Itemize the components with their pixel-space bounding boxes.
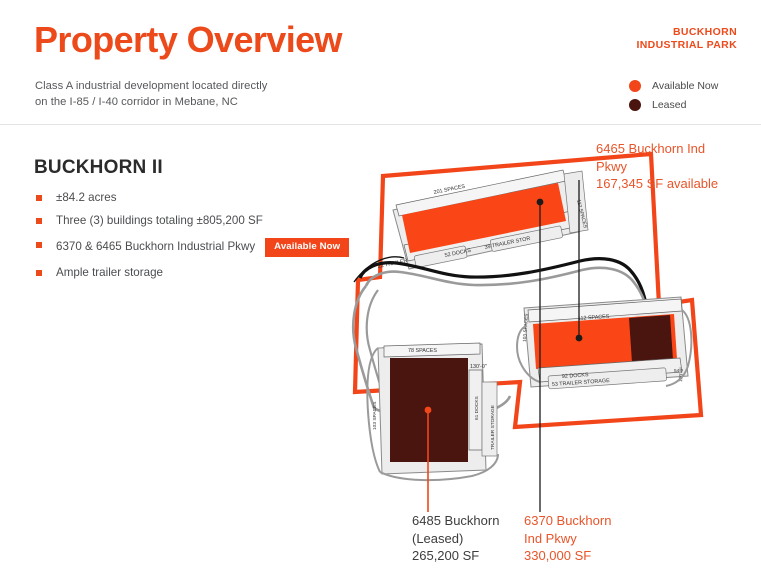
- bldg-6465-group: 201 SPACES 52 DOCKS 22 TRAILER 39 TRAILE…: [377, 170, 588, 270]
- property-overview-slide: Property Overview Class A industrial dev…: [0, 0, 761, 588]
- bullet-text: ±84.2 acres: [56, 191, 117, 205]
- callout-6485-line-3: 265,200 SF: [412, 547, 522, 565]
- legend-dot-leased-icon: [629, 99, 641, 111]
- leader-dot-6465: [576, 335, 583, 342]
- callout-6465-line-2: Pkwy: [596, 158, 756, 176]
- list-item: Three (3) buildings totaling ±805,200 SF: [34, 214, 364, 228]
- map-annotation: TRAILER STORAGE: [490, 405, 496, 450]
- callout-6465-line-3: 167,345 SF available: [596, 175, 756, 193]
- bullet-text: Ample trailer storage: [56, 266, 163, 280]
- callout-6485-line-2: (Leased): [412, 530, 522, 548]
- section-title: BUCKHORN II: [34, 158, 364, 177]
- page-header: Property Overview Class A industrial dev…: [0, 0, 761, 125]
- callout-6370-line-1: 6370 Buckhorn: [524, 512, 642, 530]
- callout-6370-line-3: 330,000 SF: [524, 547, 642, 565]
- leader-dot-6485: [425, 407, 432, 414]
- header-divider: [0, 124, 761, 125]
- callout-6370: 6370 Buckhorn Ind Pkwy 330,000 SF: [524, 512, 642, 565]
- callout-6485: 6485 Buckhorn (Leased) 265,200 SF: [412, 512, 522, 565]
- list-item: 6370 & 6465 Buckhorn Industrial Pkwy Ava…: [34, 238, 364, 257]
- map-annotation: 61 DOCKS: [474, 396, 480, 420]
- callout-6465: 6465 Buckhorn Ind Pkwy 167,345 SF availa…: [596, 140, 756, 193]
- bullet-text: Three (3) buildings totaling ±805,200 SF: [56, 214, 263, 228]
- callout-6485-line-1: 6485 Buckhorn: [412, 512, 522, 530]
- bldg-6485-group: 78 SPACES 130'-0" 61 DOCKS TRAILER STORA…: [367, 343, 498, 480]
- bullet-square-icon: [36, 270, 42, 276]
- brand-line-1: BUCKHORN: [636, 26, 737, 39]
- legend-dot-available-icon: [629, 80, 641, 92]
- page-title: Property Overview: [34, 22, 342, 58]
- list-item: ±84.2 acres: [34, 191, 364, 205]
- legend-item-leased: Leased: [629, 97, 737, 113]
- legend-label-leased: Leased: [652, 99, 686, 111]
- feature-bullet-list: ±84.2 acres Three (3) buildings totaling…: [34, 191, 364, 280]
- map-annotation: 103 SPACES: [372, 402, 378, 430]
- left-info-panel: BUCKHORN II ±84.2 acres Three (3) buildi…: [34, 158, 364, 289]
- bullet-square-icon: [36, 195, 42, 201]
- legend-label-available: Available Now: [652, 80, 718, 92]
- bullet-square-icon: [36, 218, 42, 224]
- callout-6370-line-2: Ind Pkwy: [524, 530, 642, 548]
- bullet-text: 6370 & 6465 Buckhorn Industrial Pkwy: [56, 240, 255, 254]
- map-legend: Available Now Leased: [629, 78, 737, 116]
- bldg-6370-group: 112 SPACES 92 DOCKS 53 TRAILER STORAGE 1…: [517, 297, 691, 389]
- bldg-6370-leased-portion: [629, 315, 673, 363]
- bullet-square-icon: [36, 242, 42, 248]
- page-subtitle: Class A industrial development located d…: [35, 78, 267, 110]
- subtitle-line-1: Class A industrial development located d…: [35, 78, 267, 94]
- map-annotation: 130'-0": [470, 364, 487, 370]
- leader-dot-6370: [537, 199, 544, 206]
- legend-item-available-now: Available Now: [629, 78, 737, 94]
- map-annotation: 78 SPACES: [408, 348, 437, 354]
- brand-logo: BUCKHORN INDUSTRIAL PARK: [636, 26, 737, 53]
- map-annotation: 54: [674, 368, 680, 374]
- brand-line-2: INDUSTRIAL PARK: [636, 39, 737, 52]
- list-item: Ample trailer storage: [34, 266, 364, 280]
- callout-6465-line-1: 6465 Buckhorn Ind: [596, 140, 756, 158]
- subtitle-line-2: on the I-85 / I-40 corridor in Mebane, N…: [35, 94, 267, 110]
